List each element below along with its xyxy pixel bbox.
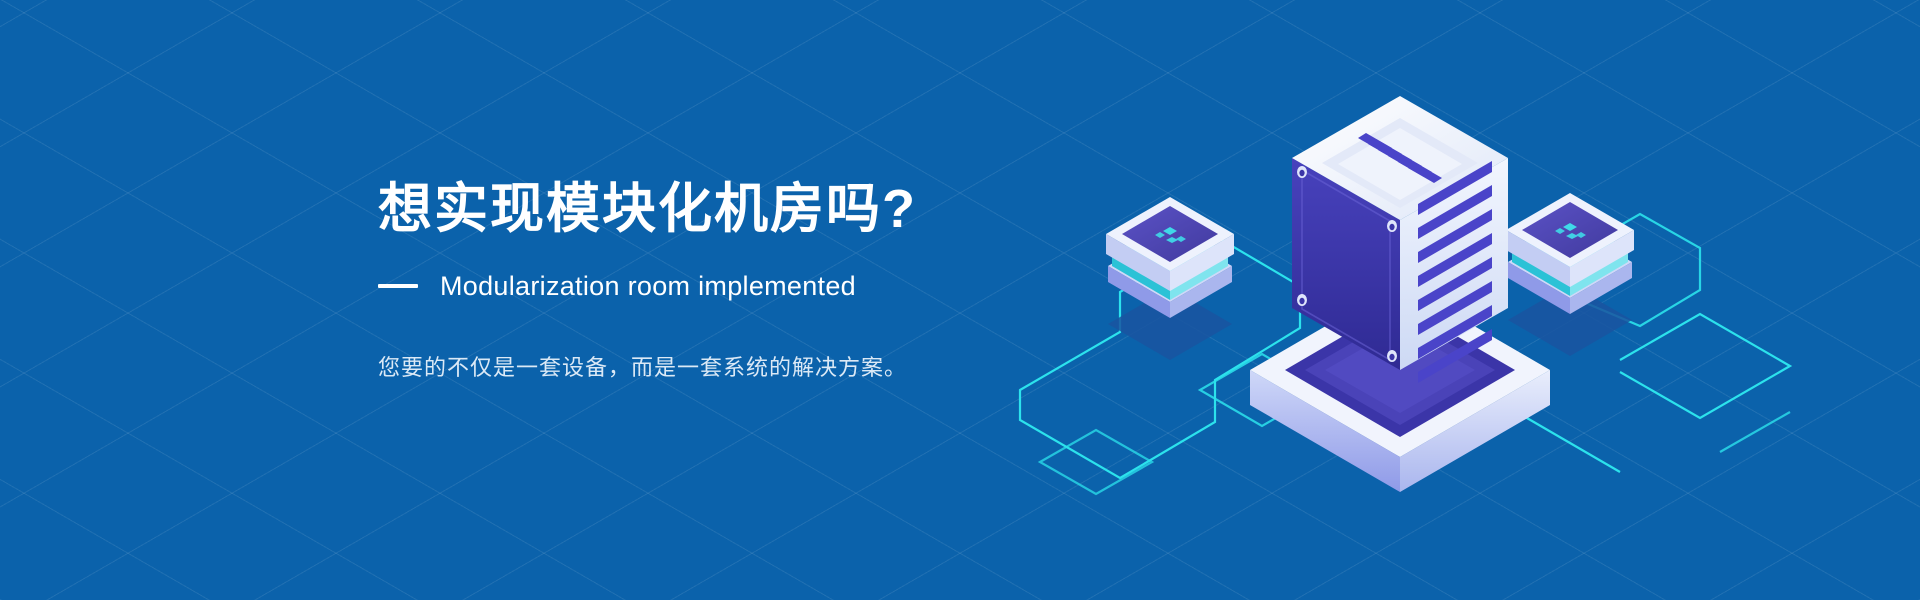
page-title: 想实现模块化机房吗?	[378, 178, 1058, 241]
hero-copy-block: 想实现模块化机房吗? Modularization room implement…	[378, 178, 1058, 382]
hero-banner: 想实现模块化机房吗? Modularization room implement…	[0, 0, 1920, 600]
chip-module-right	[1506, 193, 1634, 356]
hero-description: 您要的不仅是一套设备，而是一套系统的解决方案。	[378, 350, 1058, 382]
subtitle-row: Modularization room implemented	[378, 271, 1058, 302]
dash-marker	[378, 284, 418, 288]
page-subtitle: Modularization room implemented	[440, 271, 856, 302]
isometric-server-illustration	[1000, 60, 1820, 540]
chip-module-left	[1106, 197, 1234, 360]
